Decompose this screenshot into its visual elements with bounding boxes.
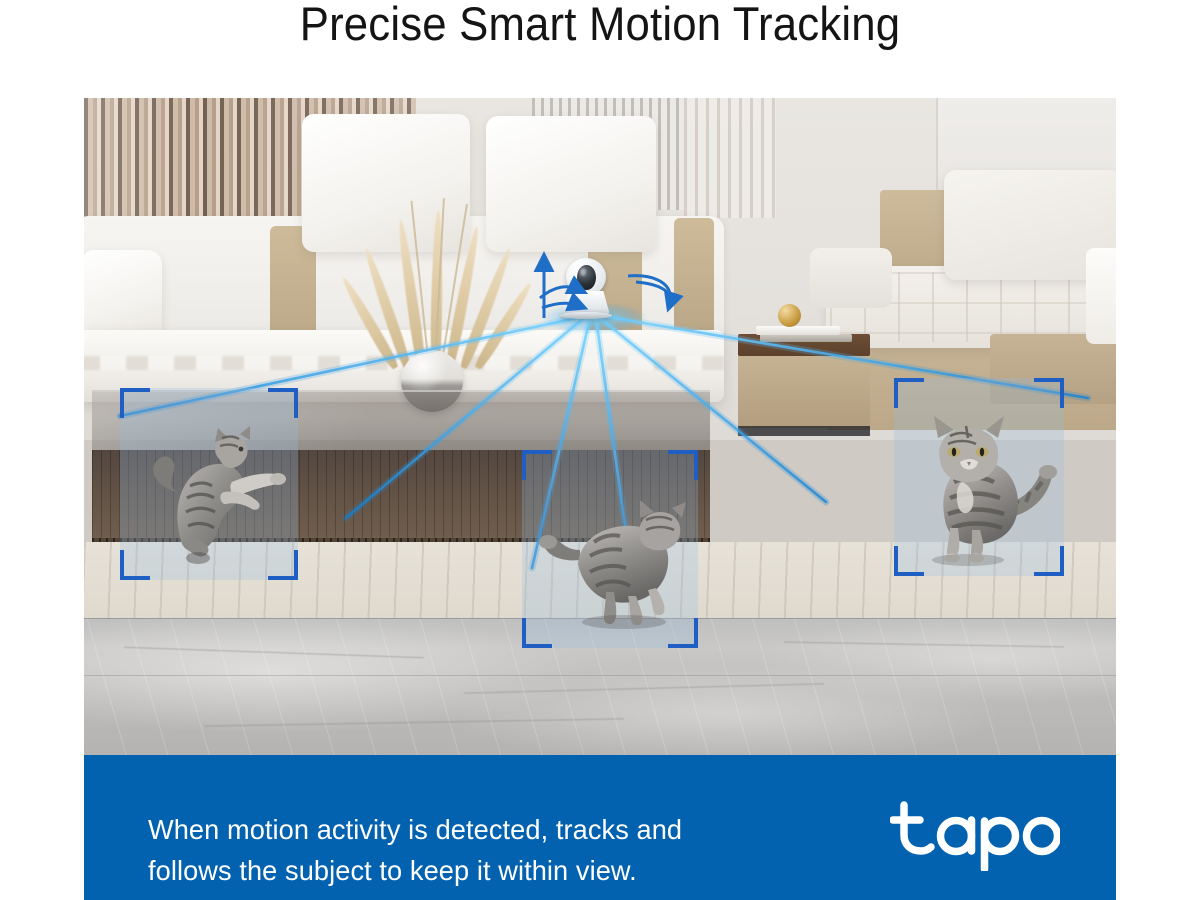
side-table-shadow	[738, 426, 870, 436]
banner-caption-line-1: When motion activity is detected, tracks…	[148, 809, 808, 850]
sofa-cushion	[486, 116, 656, 252]
banner-caption: When motion activity is detected, tracks…	[148, 809, 808, 891]
page-title: Precise Smart Motion Tracking	[42, 0, 1158, 52]
product-scene-photo	[84, 98, 1116, 755]
sectional-armrest	[810, 248, 892, 308]
pan-arrow-left	[540, 287, 580, 298]
bracket-corner-top-right	[268, 388, 298, 418]
cat-right	[910, 408, 1060, 566]
bracket-corner-top-right	[668, 450, 698, 480]
bracket-corner-top-left	[894, 378, 924, 408]
bracket-corner-top-right	[1034, 378, 1064, 408]
product-feature-card: Precise Smart Motion Tracking	[0, 0, 1200, 900]
cat-center	[536, 480, 702, 630]
pan-arrow-left-lower	[542, 303, 580, 308]
stacked-book	[756, 326, 840, 335]
sofa-armrest	[84, 250, 162, 342]
wall-slats-tertiary	[684, 98, 776, 218]
gold-sphere-ornament	[778, 304, 801, 327]
info-banner: When motion activity is detected, tracks…	[84, 755, 1116, 900]
bracket-corner-top-left	[522, 450, 552, 480]
banner-caption-line-2: follows the subject to keep it within vi…	[148, 850, 808, 891]
camera-rotation-arrows	[524, 246, 724, 332]
sectional-cushion	[1086, 248, 1116, 344]
pampas-grass	[384, 198, 492, 368]
cat-left	[146, 416, 296, 568]
side-table-body	[738, 354, 870, 428]
tapo-logo	[890, 799, 1060, 871]
bracket-corner-top-left	[120, 388, 150, 418]
stacked-book	[760, 334, 852, 342]
